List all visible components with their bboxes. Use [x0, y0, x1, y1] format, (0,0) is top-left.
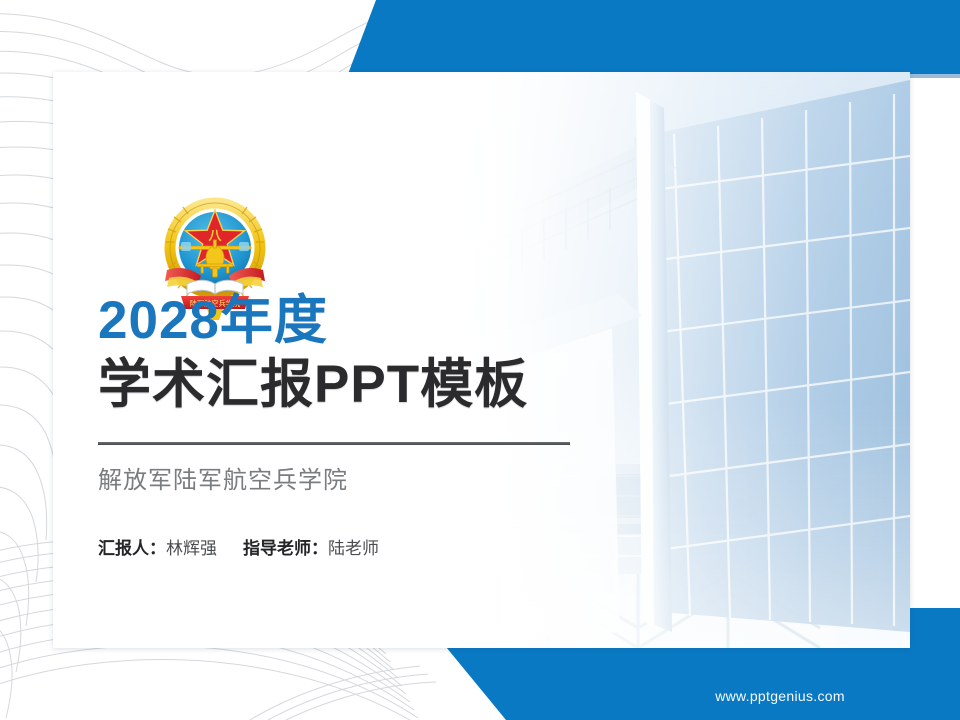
presenter-name: 林辉强: [166, 539, 217, 558]
footer-watermark: www.pptgenius.com: [0, 688, 960, 704]
advisor-name: 陆老师: [328, 539, 379, 558]
title-year: 2028年度: [98, 290, 618, 352]
footer-url-text: www.pptgenius.com: [715, 688, 845, 704]
credits-line: 汇报人：林辉强指导老师：陆老师: [98, 537, 618, 561]
slide-content-card: 八 陆军: [53, 72, 910, 648]
organization-name: 解放军陆军航空兵学院: [98, 465, 618, 497]
advisor-label: 指导老师：: [243, 539, 328, 558]
title-text-block: 2028年度 学术汇报PPT模板 解放军陆军航空兵学院 汇报人：林辉强指导老师：…: [98, 290, 618, 561]
title-divider: [98, 442, 570, 445]
presenter-label: 汇报人：: [98, 539, 166, 558]
title-main: 学术汇报PPT模板: [98, 354, 618, 416]
presentation-slide: 八 陆军: [0, 0, 960, 720]
